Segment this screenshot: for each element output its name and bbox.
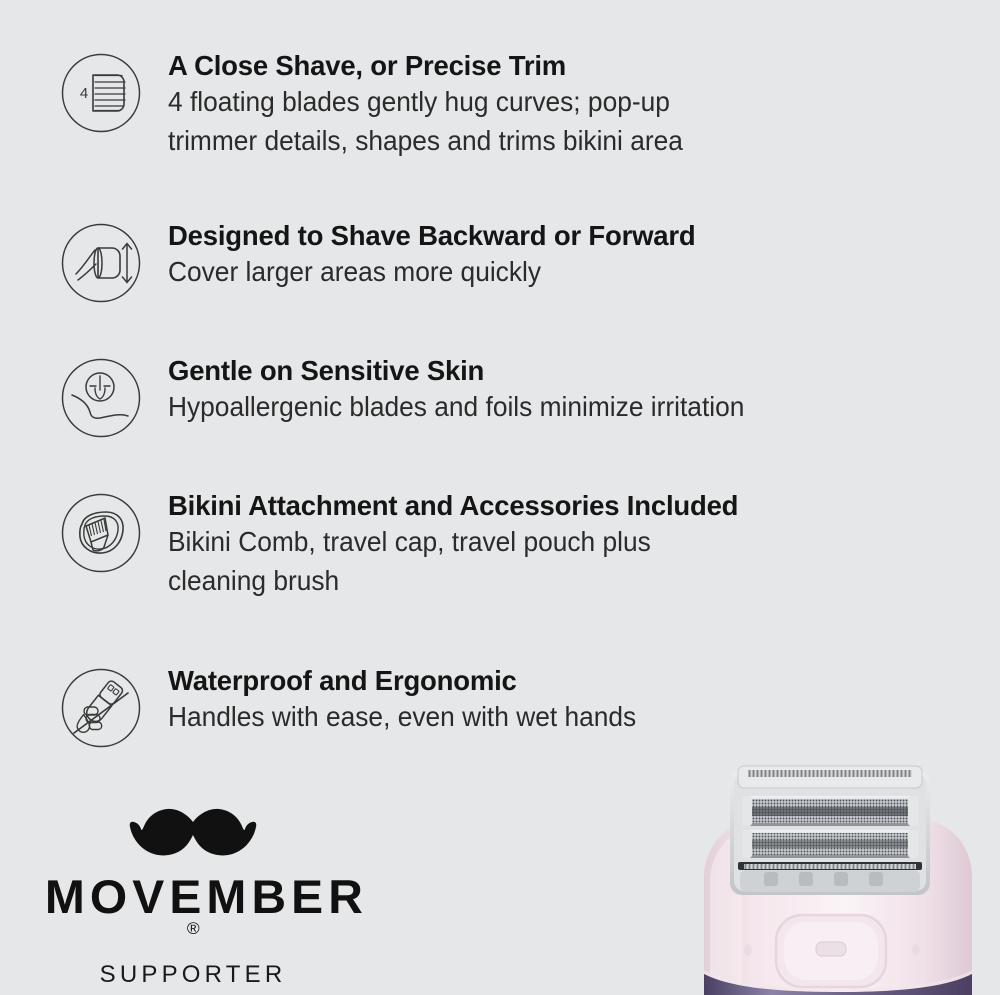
feature-title: Designed to Shave Backward or Forward [168,220,695,251]
electric-shaver-photo [668,760,1000,995]
sensitive-skin-follicle-icon [60,357,142,439]
icon-number-label: 4 [80,85,88,102]
feature-title: A Close Shave, or Precise Trim [168,50,566,81]
feature-item: Designed to Shave Backward or Forward Co… [60,218,695,304]
feature-description: Cover larger areas more quickly [168,252,664,292]
feature-description: Handles with ease, even with wet hands [168,697,636,737]
feature-description: Hypoallergenic blades and foils minimize… [168,387,744,427]
feature-item: Waterproof and Ergonomic Handles with ea… [60,663,666,749]
feature-item: Gentle on Sensitive Skin Hypoallergenic … [60,353,781,439]
four-blade-foil-icon: 4 [60,52,142,134]
movember-wordmark: MOVEMBER [45,873,368,920]
feature-text-block: Waterproof and Ergonomic Handles with ea… [168,663,666,736]
movember-logo: MOVEMBER® SUPPORTER [48,808,338,987]
registered-trademark-mark: ® [187,920,200,937]
feature-text-block: Designed to Shave Backward or Forward Co… [168,218,695,291]
feature-title: Bikini Attachment and Accessories Includ… [168,490,738,521]
shave-direction-arrow-icon [60,222,142,304]
moustache-icon [48,808,338,865]
feature-item: Bikini Attachment and Accessories Includ… [60,488,738,601]
feature-item: 4 A Close Shave, or Precise Trim 4 float… [60,48,716,161]
feature-title: Waterproof and Ergonomic [168,665,517,696]
feature-text-block: A Close Shave, or Precise Trim 4 floatin… [168,48,716,161]
feature-title: Gentle on Sensitive Skin [168,355,484,386]
feature-description: Bikini Comb, travel cap, travel pouch pl… [168,522,704,602]
movember-subtitle: SUPPORTER [48,963,338,987]
feature-description: 4 floating blades gently hug curves; pop… [168,82,683,162]
movember-wordmark-row: MOVEMBER® [48,873,338,945]
feature-text-block: Bikini Attachment and Accessories Includ… [168,488,738,601]
bikini-comb-attachment-icon [60,492,142,574]
feature-text-block: Gentle on Sensitive Skin Hypoallergenic … [168,353,781,426]
waterproof-wet-hand-icon [60,667,142,749]
product-feature-infographic: 4 A Close Shave, or Precise Trim 4 float… [0,0,1000,995]
